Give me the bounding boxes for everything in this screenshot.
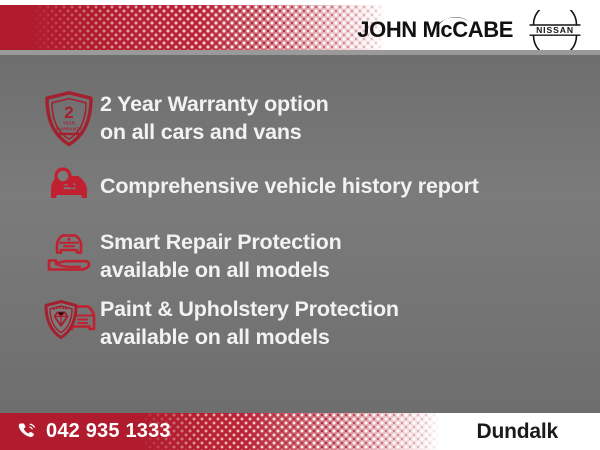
- warranty-badge-caption-year: YEAR: [63, 121, 75, 126]
- feature-text-paint-protection: Paint & Upholstery Protection available …: [100, 294, 399, 351]
- feature-line-1: Smart Repair Protection: [100, 230, 342, 254]
- warranty-badge-number: 2: [64, 103, 73, 122]
- dealership-promo-banner: JOHN McCABE NISSAN: [0, 0, 600, 450]
- feature-text-smart-repair: Smart Repair Protection available on all…: [100, 227, 342, 284]
- feature-icon-wrapper: [44, 294, 100, 348]
- shield-diamond-car-icon: [44, 296, 98, 348]
- header-bar: JOHN McCABE NISSAN: [0, 5, 600, 50]
- feature-item-warranty: 2 YEAR WARRANTY 2 Year Warranty option o…: [0, 89, 600, 147]
- footer-bar: 042 935 1333 Dundalk: [0, 413, 600, 450]
- feature-list: 2 YEAR WARRANTY 2 Year Warranty option o…: [0, 55, 600, 365]
- feature-icon-wrapper: [44, 161, 100, 209]
- feature-line-1: Paint & Upholstery Protection: [100, 297, 399, 321]
- location-label: Dundalk: [477, 413, 558, 450]
- dealer-name-text: JOHN McCABE: [357, 19, 513, 41]
- feature-text-warranty: 2 Year Warranty option on all cars and v…: [100, 89, 329, 146]
- feature-item-history-report: Comprehensive vehicle history report: [0, 161, 600, 217]
- feature-line-2: available on all models: [100, 324, 399, 352]
- feature-item-smart-repair: Smart Repair Protection available on all…: [0, 227, 600, 284]
- brand-lockup: JOHN McCABE NISSAN: [357, 10, 586, 50]
- phone-contact[interactable]: 042 935 1333: [18, 413, 171, 450]
- nissan-logo-icon: NISSAN: [524, 10, 586, 50]
- header-halftone-gradient: [30, 5, 385, 50]
- dealer-wordmark: JOHN McCABE: [357, 17, 513, 43]
- feature-icon-wrapper: [44, 227, 100, 279]
- feature-item-paint-protection: Paint & Upholstery Protection available …: [0, 294, 600, 351]
- features-panel: 2 YEAR WARRANTY 2 Year Warranty option o…: [0, 55, 600, 413]
- feature-line-1: 2 Year Warranty option: [100, 92, 329, 116]
- feature-line-1: Comprehensive vehicle history report: [100, 174, 479, 198]
- car-magnifier-icon: [44, 163, 94, 209]
- phone-ringing-icon: [18, 422, 37, 441]
- car-on-hand-icon: [44, 229, 94, 279]
- shield-warranty-icon: 2 YEAR WARRANTY: [44, 91, 94, 147]
- nissan-wordmark-text: NISSAN: [536, 25, 574, 35]
- feature-line-2: on all cars and vans: [100, 119, 329, 147]
- feature-text-history-report: Comprehensive vehicle history report: [100, 161, 479, 201]
- phone-number-text: 042 935 1333: [46, 420, 171, 443]
- feature-icon-wrapper: 2 YEAR WARRANTY: [44, 89, 100, 147]
- feature-line-2: available on all models: [100, 257, 342, 285]
- warranty-badge-caption-warranty: WARRANTY: [56, 126, 82, 131]
- footer-halftone-gradient: [140, 413, 440, 450]
- location-text: Dundalk: [477, 420, 558, 444]
